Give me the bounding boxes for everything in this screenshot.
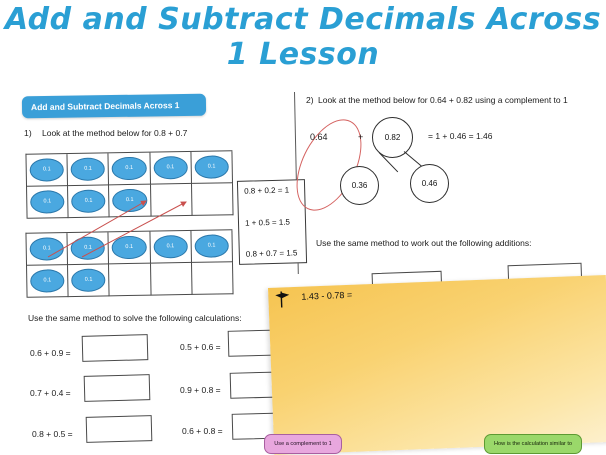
ten-frame-cell: 0.1 <box>109 153 151 186</box>
practice-1-right-item-3: 0.6 + 0.8 = <box>182 426 223 436</box>
ten-frame-second: 0.10.10.10.10.10.10.1 <box>25 229 233 298</box>
decimal-counter: 0.1 <box>153 235 188 258</box>
practice-1-right-item-2: 0.9 + 0.8 = <box>180 385 221 395</box>
decimal-counter: 0.1 <box>112 236 147 259</box>
ten-frame-cell: 0.1 <box>109 232 151 265</box>
worksheet-banner-label: Add and Subtract Decimals Across 1 <box>31 100 180 112</box>
ten-frame-cell: 0.1 <box>68 185 110 218</box>
tag-pink-label: Use a complement to 1 <box>274 441 332 448</box>
answer-box-left-2[interactable] <box>84 374 151 402</box>
worksheet-preview-page: Add and Subtract Decimals Across 1 Lesso… <box>0 0 606 455</box>
ten-frame-cell: 0.1 <box>27 265 69 298</box>
part-whole-result: = 1 + 0.46 = 1.46 <box>428 131 493 141</box>
sticky-note[interactable]: 1.43 - 0.78 = <box>268 275 606 455</box>
page-title: Add and Subtract Decimals Across 1 Lesso… <box>0 2 606 73</box>
answer-box-left-1[interactable] <box>82 334 149 362</box>
decimal-counter: 0.1 <box>71 158 106 181</box>
decimal-counter: 0.1 <box>194 156 229 179</box>
ten-frame-cell: 0.1 <box>109 185 151 218</box>
decimal-counter: 0.1 <box>71 269 106 292</box>
decimal-counter: 0.1 <box>194 235 229 258</box>
practice-1-prompt: Use the same method to solve the followi… <box>28 313 242 323</box>
ten-frame-cell: 0.1 <box>150 152 192 185</box>
ten-frame-cell: 0.1 <box>27 186 69 219</box>
practice-1-left-item-2: 0.7 + 0.4 = <box>30 388 71 398</box>
tag-green-label: How is the calculation similar to <box>494 441 572 448</box>
part-whole-part-right-circle: 0.46 <box>410 164 449 203</box>
practice-2-prompt: Use the same method to work out the foll… <box>316 238 531 248</box>
ten-frame-first: 0.10.10.10.10.10.10.10.1 <box>25 150 233 219</box>
method-step-1: 0.8 + 0.2 = 1 <box>244 185 298 195</box>
title-line-2: 1 Lesson <box>0 37 606 72</box>
practice-1-left-item-3: 0.8 + 0.5 = <box>32 429 73 439</box>
tag-use-complement[interactable]: Use a complement to 1 <box>264 434 342 454</box>
question-2-prompt: Look at the method below for 0.64 + 0.82… <box>318 95 568 105</box>
ten-frame-cell: 0.1 <box>150 231 192 264</box>
decimal-counter: 0.1 <box>30 269 65 292</box>
ten-frame-cell <box>192 262 234 295</box>
ten-frame-cell: 0.1 <box>26 233 68 266</box>
ten-frame-cell: 0.1 <box>191 151 233 184</box>
decimal-counter: 0.1 <box>30 237 65 260</box>
decimal-counter: 0.1 <box>71 190 106 213</box>
question-1-prompt: Look at the method below for 0.8 + 0.7 <box>42 128 187 138</box>
practice-1-right-item-1: 0.5 + 0.6 = <box>180 342 221 352</box>
ten-frame-cell: 0.1 <box>26 154 68 187</box>
practice-1-left-item-1: 0.6 + 0.9 = <box>30 348 71 358</box>
sticky-note-equation: 1.43 - 0.78 = <box>301 290 352 302</box>
decimal-counter: 0.1 <box>112 157 147 180</box>
answer-box-left-3[interactable] <box>86 415 153 443</box>
decimal-counter: 0.1 <box>71 237 106 260</box>
worksheet-banner: Add and Subtract Decimals Across 1 <box>22 94 206 119</box>
question-1-number: 1) <box>24 128 32 138</box>
ten-frame-cell: 0.1 <box>68 232 110 265</box>
ten-frame-cell: 0.1 <box>191 230 233 263</box>
ten-frame-cell <box>151 184 193 217</box>
ten-frame-cell: 0.1 <box>68 264 110 297</box>
decimal-counter: 0.1 <box>112 189 147 212</box>
part-whole-part-left-circle: 0.36 <box>340 166 379 205</box>
tag-calculation-similar[interactable]: How is the calculation similar to <box>484 434 582 454</box>
part-whole-first-addend: 0.64 <box>310 132 328 142</box>
decimal-counter: 0.1 <box>30 190 65 213</box>
decimal-counter: 0.1 <box>30 158 65 181</box>
ten-frame-cell <box>151 263 193 296</box>
ten-frame-cell <box>192 183 234 216</box>
question-2-number: 2) <box>306 95 314 105</box>
decimal-counter: 0.1 <box>153 156 188 179</box>
ten-frame-cell <box>109 264 151 297</box>
part-whole-operator: + <box>358 132 363 142</box>
title-line-1: Add and Subtract Decimals Across <box>0 2 606 37</box>
method-step-2: 1 + 0.5 = 1.5 <box>245 217 299 227</box>
method-step-3: 0.8 + 0.7 = 1.5 <box>246 248 300 258</box>
pin-icon <box>274 290 291 309</box>
ten-frame-cell: 0.1 <box>68 153 110 186</box>
